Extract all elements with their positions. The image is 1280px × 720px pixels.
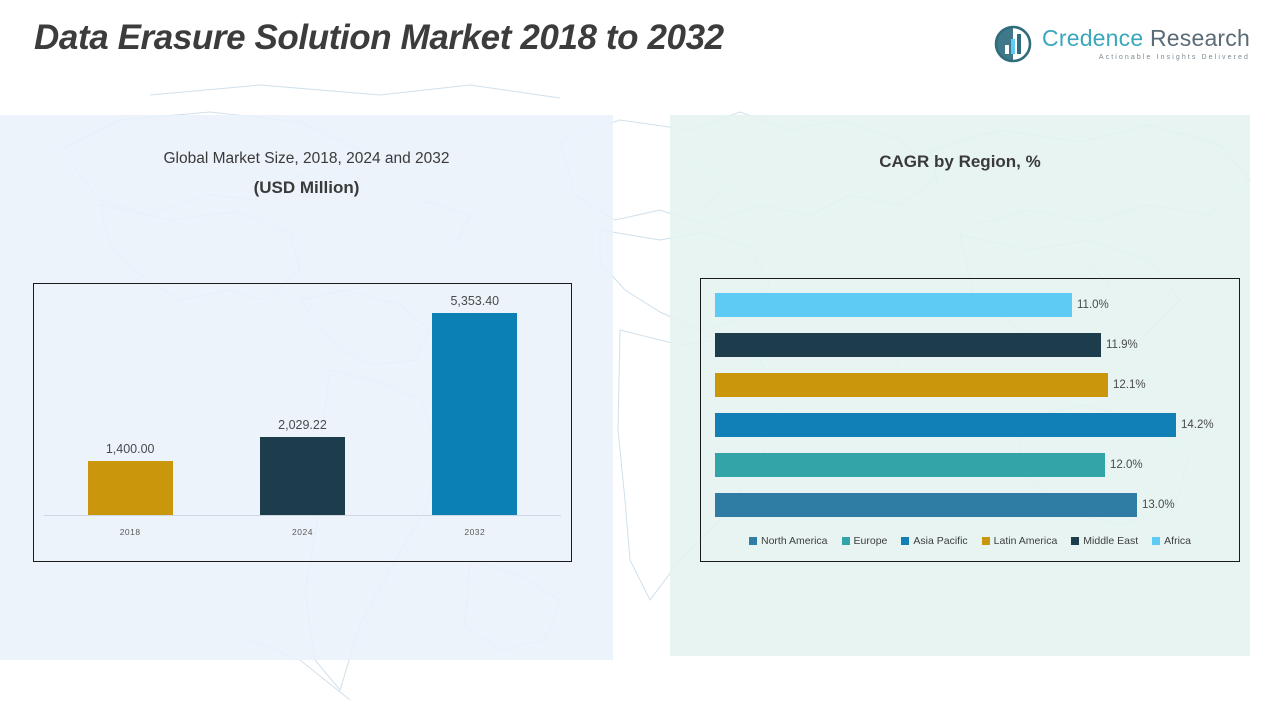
bar-chart-circle-logo-icon [993, 24, 1033, 64]
column-bar [88, 461, 173, 515]
bar-row: 12.1% [715, 373, 1233, 397]
legend-label: Middle East [1083, 535, 1138, 547]
horizontal-bar [715, 413, 1176, 437]
column-chart-axis-line [44, 515, 561, 516]
right-chart-title: CAGR by Region, % [670, 152, 1250, 172]
legend-item: Latin America [982, 535, 1058, 547]
bar-row: 13.0% [715, 493, 1233, 517]
bar-plot-area: 11.0%11.9%12.1%14.2%12.0%13.0% [715, 293, 1233, 517]
legend-label: North America [761, 535, 828, 547]
bar-row: 12.0% [715, 453, 1233, 477]
horizontal-bar [715, 293, 1072, 317]
legend-item: Middle East [1071, 535, 1138, 547]
column-value-label: 5,353.40 [450, 294, 499, 308]
horizontal-bar [715, 333, 1101, 357]
legend-swatch-icon [749, 537, 757, 545]
bar-value-label: 11.0% [1077, 299, 1109, 311]
bar-row: 14.2% [715, 413, 1233, 437]
bar-chart-legend: North AmericaEuropeAsia PacificLatin Ame… [701, 535, 1239, 547]
horizontal-bar [715, 373, 1108, 397]
legend-swatch-icon [1152, 537, 1160, 545]
bar-value-label: 12.1% [1113, 379, 1146, 391]
legend-item: Africa [1152, 535, 1191, 547]
header: Data Erasure Solution Market 2018 to 203… [0, 0, 1280, 115]
legend-item: Asia Pacific [901, 535, 967, 547]
column-category-label: 2032 [402, 527, 547, 545]
column-value-label: 1,400.00 [106, 442, 155, 456]
horizontal-bar [715, 493, 1137, 517]
column-category-label: 2024 [230, 527, 375, 545]
legend-label: Latin America [994, 535, 1058, 547]
global-market-size-column-chart: 1,400.002,029.225,353.40 201820242032 [33, 283, 572, 562]
left-chart-units: (USD Million) [0, 178, 613, 198]
legend-swatch-icon [1071, 537, 1079, 545]
bar-row: 11.0% [715, 293, 1233, 317]
logo-word-credence: Credence [1042, 25, 1143, 51]
legend-swatch-icon [842, 537, 850, 545]
column-bar [432, 313, 517, 515]
legend-label: Africa [1164, 535, 1191, 547]
horizontal-bar [715, 453, 1105, 477]
column-plot-area: 1,400.002,029.225,353.40 [44, 294, 561, 515]
column-bar [260, 437, 345, 515]
column-chart-category-labels: 201820242032 [44, 527, 561, 545]
bar-value-label: 11.9% [1106, 339, 1138, 351]
left-chart-subtitle: Global Market Size, 2018, 2024 and 2032 [0, 150, 613, 168]
column-item: 5,353.40 [402, 294, 547, 515]
cagr-by-region-bar-chart: 11.0%11.9%12.1%14.2%12.0%13.0% North Ame… [700, 278, 1240, 562]
bar-row: 11.9% [715, 333, 1233, 357]
column-item: 1,400.00 [58, 294, 203, 515]
legend-swatch-icon [901, 537, 909, 545]
column-category-label: 2018 [58, 527, 203, 545]
bar-value-label: 14.2% [1181, 419, 1214, 431]
logo-tagline: Actionable Insights Delivered [1042, 54, 1250, 61]
legend-label: Asia Pacific [913, 535, 967, 547]
logo-wordmark: Credence Research [1042, 27, 1250, 50]
legend-item: North America [749, 535, 828, 547]
logo-word-research: Research [1150, 25, 1250, 51]
column-item: 2,029.22 [230, 294, 375, 515]
legend-swatch-icon [982, 537, 990, 545]
logo-text: Credence Research Actionable Insights De… [1042, 27, 1250, 61]
column-value-label: 2,029.22 [278, 418, 327, 432]
page-title: Data Erasure Solution Market 2018 to 203… [34, 18, 724, 58]
bar-value-label: 13.0% [1142, 499, 1175, 511]
brand-logo: Credence Research Actionable Insights De… [993, 24, 1250, 64]
legend-item: Europe [842, 535, 888, 547]
bar-value-label: 12.0% [1110, 459, 1143, 471]
legend-label: Europe [854, 535, 888, 547]
